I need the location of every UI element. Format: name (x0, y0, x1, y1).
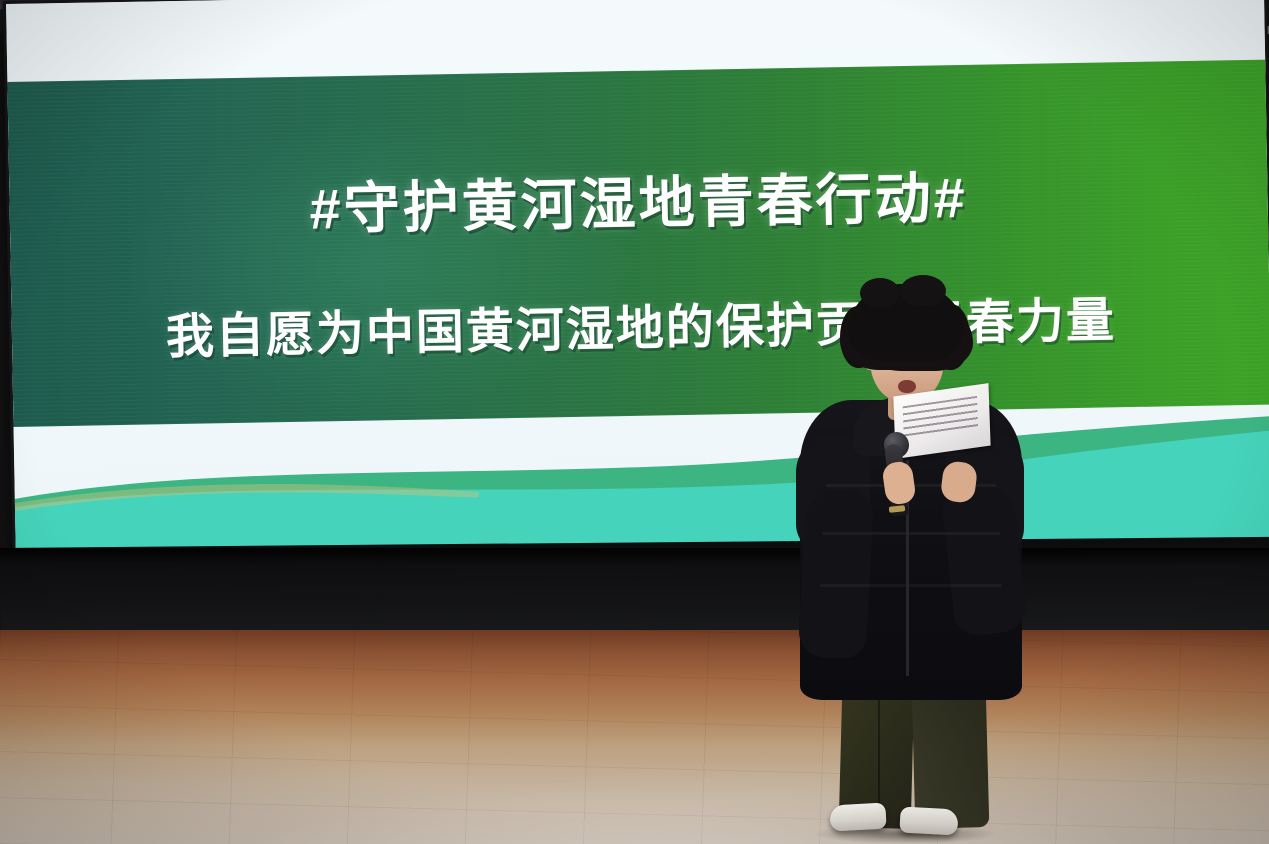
hair-curl (860, 278, 900, 308)
jacket-quilt-seam (822, 532, 1000, 535)
mouth-open (898, 380, 916, 393)
led-video-wall: #守护黄河湿地青春行动# 我自愿为中国黄河湿地的保护贡献青春力量 (6, 0, 1269, 570)
hair-curl (900, 275, 946, 307)
backdrop-shadow (0, 548, 1269, 566)
jacket-quilt-seam (820, 584, 1002, 587)
speaker-figure (796, 284, 1026, 844)
sneaker-right (899, 807, 958, 836)
green-glow-highlight (118, 111, 643, 420)
stage-floor (0, 630, 1269, 844)
sneaker-left (829, 803, 886, 832)
green-gradient-band (6, 59, 1269, 427)
jacket-arm-left (798, 488, 875, 659)
stage-photo-scene: #守护黄河湿地青春行动# 我自愿为中国黄河湿地的保护贡献青春力量 (0, 0, 1269, 844)
led-screen-surface: #守护黄河湿地青春行动# 我自愿为中国黄河湿地的保护贡献青春力量 (6, 0, 1269, 570)
